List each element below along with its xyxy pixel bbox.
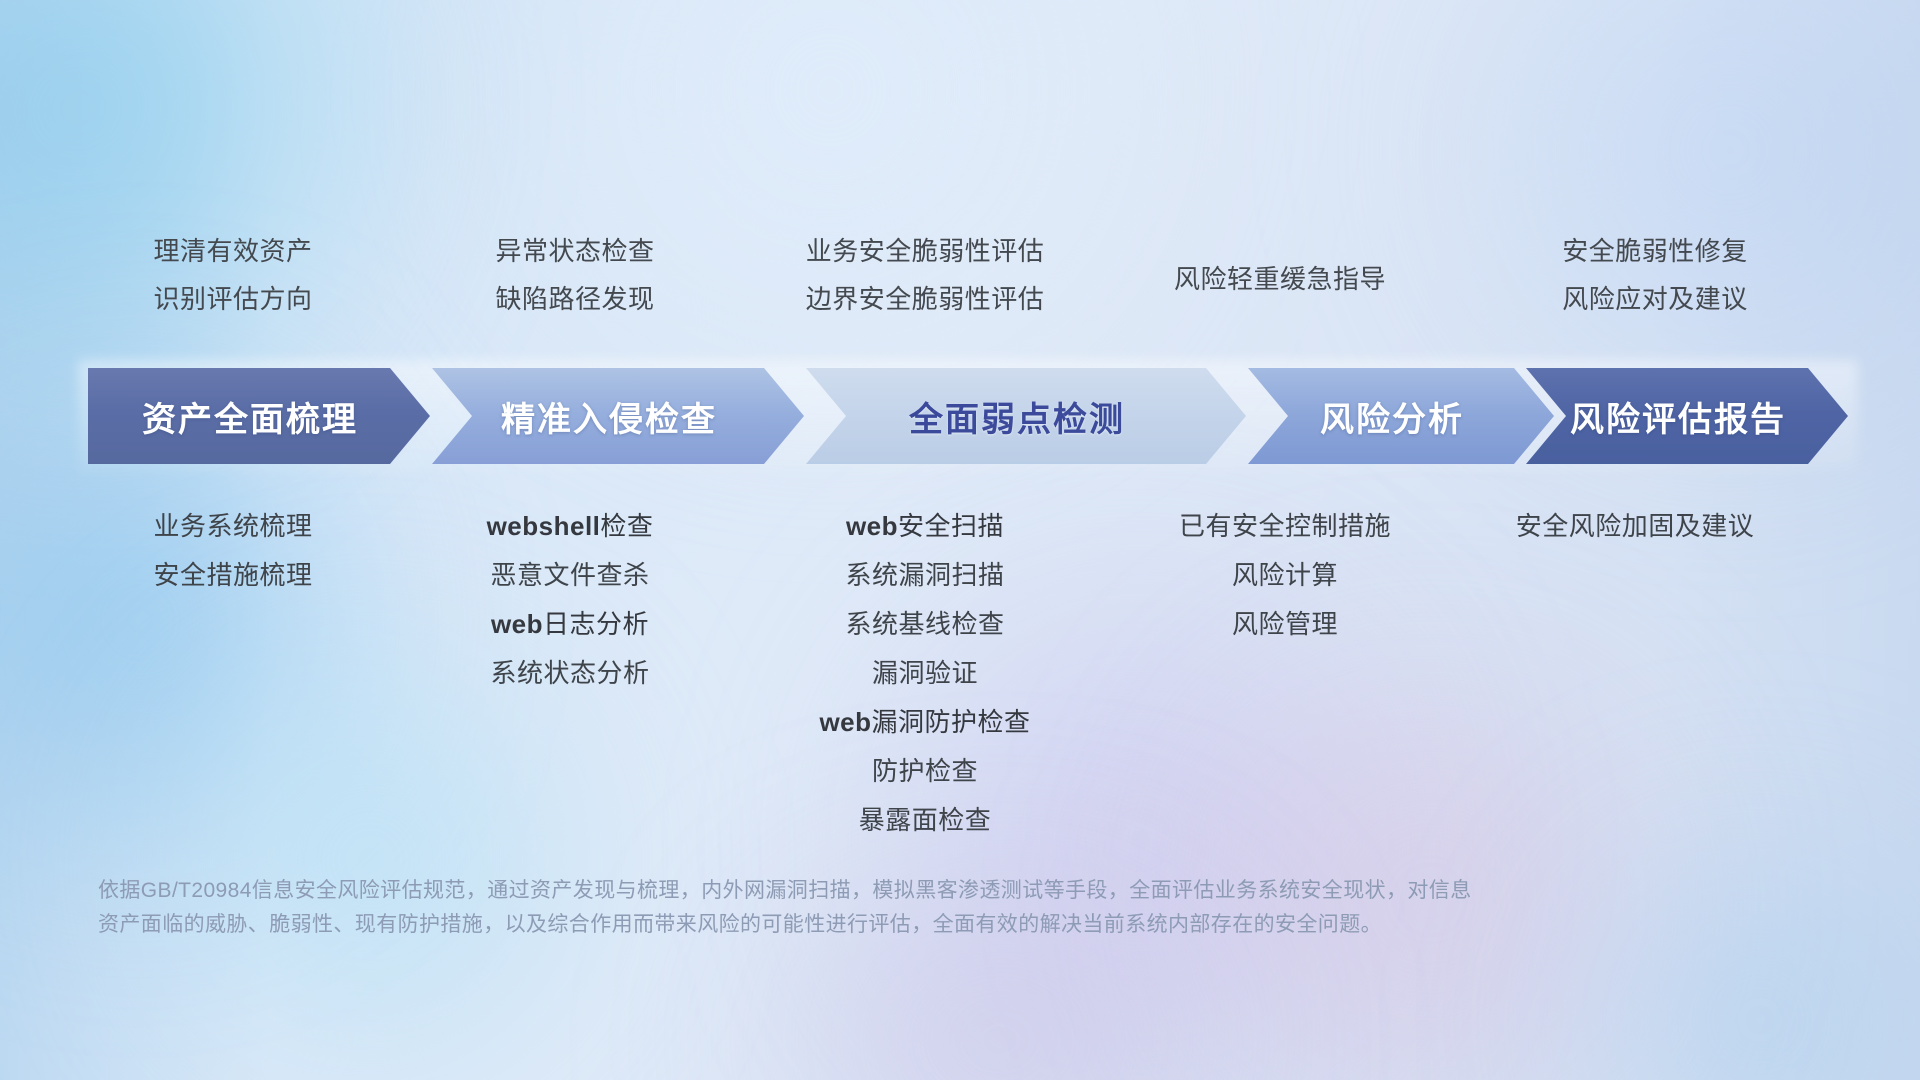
cn-part: 漏洞防护检查 [872,707,1031,737]
stage-4-bottom-item: 已有安全控制措施 [1140,513,1430,539]
latin-part: web [846,511,898,541]
stage-4-top-list: 风险轻重缓急指导 [1115,266,1445,314]
stage-2-bottom-item: 恶意文件查杀 [420,562,720,588]
stage-5-top-item: 风险应对及建议 [1510,286,1800,312]
stage-3-bottom-item: 暴露面检查 [770,807,1080,833]
stage-1-bottom-list: 业务系统梳理 安全措施梳理 [88,513,378,611]
footer-description: 依据GB/T20984信息安全风险评估规范，通过资产发现与梳理，内外网漏洞扫描，… [98,874,1608,942]
footer-line-2: 资产面临的威胁、脆弱性、现有防护措施，以及综合作用而带来风险的可能性进行评估，全… [98,908,1608,942]
stage-1-bottom-item: 业务系统梳理 [88,513,378,539]
stage-1-bottom-item: 安全措施梳理 [88,562,378,588]
stage-3-bottom-item: 系统基线检查 [770,611,1080,637]
cn-part: 日志分析 [543,609,649,639]
stage-2-top-item: 异常状态检查 [430,238,720,264]
stage-4-bottom-item: 风险管理 [1140,611,1430,637]
stage-2-bottom-list: webshell检查 恶意文件查杀 web日志分析 系统状态分析 [420,513,720,709]
stage-3-top-list: 业务安全脆弱性评估 边界安全脆弱性评估 [760,238,1090,334]
stage-3-bottom-item: web安全扫描 [770,513,1080,539]
stage-4-top-item: 风险轻重缓急指导 [1115,266,1445,292]
stage-arrow-asset-inventory[interactable]: 资产全面梳理 [88,368,430,464]
stage-2-bottom-item: 系统状态分析 [420,660,720,686]
stage-4-bottom-list: 已有安全控制措施 风险计算 风险管理 [1140,513,1430,660]
stage-1-top-item: 识别评估方向 [88,286,378,312]
stage-arrow-weakness-detection[interactable]: 全面弱点检测 [806,368,1246,464]
stage-5-title: 风险评估报告 [1526,392,1848,441]
cn-part: 检查 [600,511,653,541]
stage-2-top-list: 异常状态检查 缺陷路径发现 [430,238,720,334]
stage-arrow-risk-report[interactable]: 风险评估报告 [1526,368,1848,464]
stage-3-bottom-item: web漏洞防护检查 [770,709,1080,735]
latin-part: web [819,707,871,737]
footer-line-1: 依据GB/T20984信息安全风险评估规范，通过资产发现与梳理，内外网漏洞扫描，… [98,874,1608,908]
cn-part: 安全扫描 [898,511,1004,541]
process-flow-arrow-band: 资产全面梳理 精准入侵检查 全面弱点检测 风险分析 风险评估报告 [88,368,1848,464]
stage-1-top-item: 理清有效资产 [88,238,378,264]
stage-1-title: 资产全面梳理 [88,392,430,441]
latin-part: webshell [487,511,601,541]
stage-3-bottom-item: 防护检查 [770,758,1080,784]
stage-arrow-intrusion-check[interactable]: 精准入侵检查 [432,368,804,464]
stage-3-bottom-list: web安全扫描 系统漏洞扫描 系统基线检查 漏洞验证 web漏洞防护检查 防护检… [770,513,1080,856]
stage-5-top-list: 安全脆弱性修复 风险应对及建议 [1510,238,1800,334]
stage-3-bottom-item: 系统漏洞扫描 [770,562,1080,588]
stage-3-bottom-item: 漏洞验证 [770,660,1080,686]
stage-5-top-item: 安全脆弱性修复 [1510,238,1800,264]
stage-2-bottom-item: webshell检查 [420,513,720,539]
latin-part: web [491,609,543,639]
stage-5-bottom-item: 安全风险加固及建议 [1450,513,1820,539]
stage-3-top-item: 边界安全脆弱性评估 [760,286,1090,312]
stage-arrow-risk-analysis[interactable]: 风险分析 [1248,368,1554,464]
stage-3-top-item: 业务安全脆弱性评估 [760,238,1090,264]
stage-3-title: 全面弱点检测 [806,392,1246,441]
stage-4-title: 风险分析 [1248,392,1554,441]
stage-2-title: 精准入侵检查 [432,392,804,441]
stage-2-top-item: 缺陷路径发现 [430,286,720,312]
stage-4-bottom-item: 风险计算 [1140,562,1430,588]
stage-2-bottom-item: web日志分析 [420,611,720,637]
stage-5-bottom-list: 安全风险加固及建议 [1450,513,1820,562]
stage-1-top-list: 理清有效资产 识别评估方向 [88,238,378,334]
